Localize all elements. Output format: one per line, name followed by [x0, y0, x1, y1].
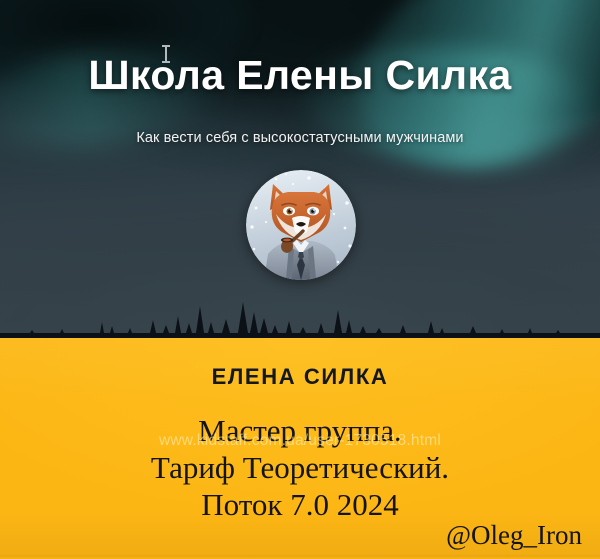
page-title: Школа Елены Силка [0, 50, 600, 100]
course-detail-line: Мастер группа. [0, 412, 600, 449]
course-details: Мастер группа. Тариф Теоретический. Пото… [0, 412, 600, 523]
info-panel: ЕЛЕНА СИЛКА Мастер группа. Тариф Теорети… [0, 338, 600, 559]
hero-subtitle: Как вести себя с высокостатусными мужчин… [0, 128, 600, 148]
seller-handle: @Oleg_Iron [446, 519, 582, 551]
conifer-treeline-silhouette [0, 292, 600, 338]
hero-section: Школа Елены Силка Как вести себя с высок… [0, 0, 600, 338]
course-detail-line: Поток 7.0 2024 [0, 486, 600, 523]
instructor-name: ЕЛЕНА СИЛКА [0, 363, 600, 391]
avatar [246, 170, 356, 280]
course-detail-line: Тариф Теоретический. [0, 449, 600, 486]
panel-bottom-edge [0, 555, 600, 559]
promo-card: Школа Елены Силка Как вести себя с высок… [0, 0, 600, 559]
